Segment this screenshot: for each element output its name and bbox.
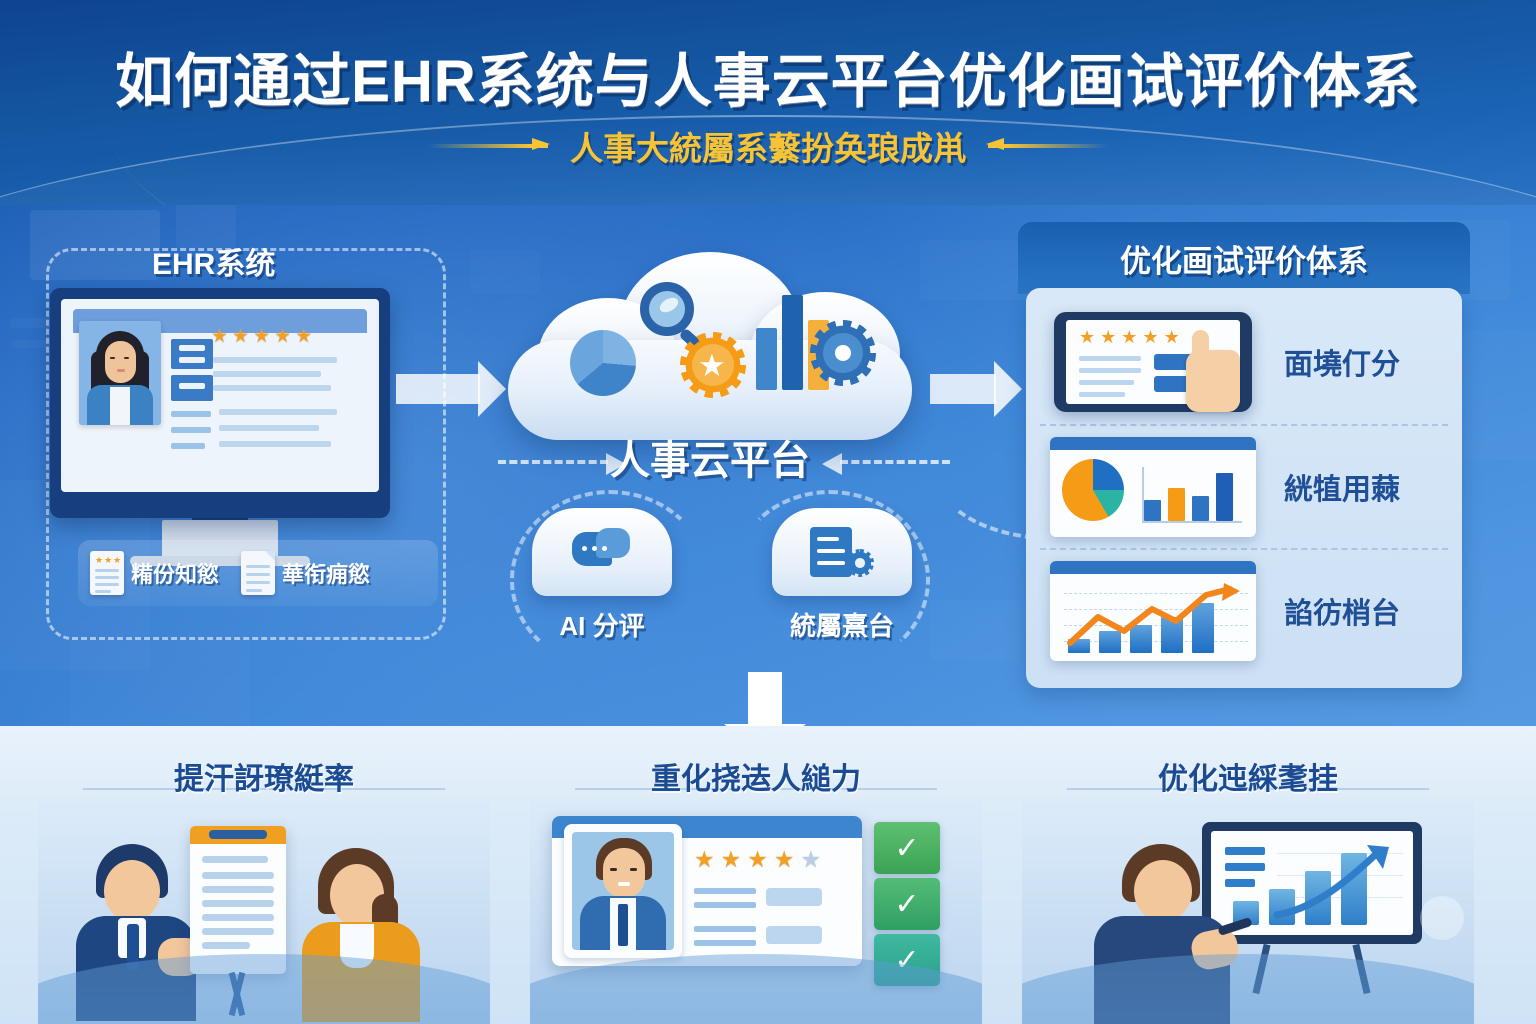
benefit-card-efficiency[interactable]: 提汗訝璙綎率 — [38, 726, 490, 1024]
benefit-title: 优化迍綵耄挂 — [1022, 754, 1474, 798]
ehr-chip-document[interactable]: 華衔痈慾 — [241, 551, 370, 595]
pod-icon-container — [772, 508, 912, 596]
text-line — [694, 902, 756, 908]
blue-gear-icon — [810, 320, 876, 386]
result-row-trend[interactable]: 諂彷梢台 — [1040, 548, 1448, 672]
head — [104, 860, 160, 922]
benefit-illustration — [1022, 800, 1474, 1024]
star-icon: ★ — [774, 850, 795, 869]
text-line — [213, 371, 321, 377]
text-line — [219, 425, 319, 431]
decorative-circle — [1420, 896, 1464, 940]
page-fold — [265, 551, 275, 561]
benefits-strip: 提汗訝璙綎率 — [0, 726, 1536, 1024]
text-line — [171, 427, 211, 433]
star-icon: ★ — [1100, 328, 1116, 346]
text-line — [1079, 392, 1125, 397]
form-line — [179, 357, 205, 363]
easel-leg — [229, 972, 245, 1016]
benefit-illustration: ★ ★ ★ ★ ★ ✓ ✓ ✓ — [530, 800, 982, 1024]
clipboard — [190, 826, 286, 974]
checkmark-list: ✓ ✓ ✓ — [874, 822, 940, 986]
text-line — [694, 940, 756, 946]
text-line — [171, 443, 205, 449]
star-icon: ★ — [698, 350, 726, 381]
text-line — [694, 888, 756, 894]
page-subtitle: 人事大統屬系蘻扮奂琅成鼡 — [570, 122, 966, 170]
avatar-eye — [124, 357, 129, 359]
rating-stars: ★ ★ ★ ★ ★ — [694, 850, 821, 869]
text-line — [219, 441, 331, 447]
result-row-analytics[interactable]: 絖犆用蕀 — [1040, 424, 1448, 548]
pie-chart-icon — [570, 330, 636, 396]
monitor-screen: ★ ★ ★ ★ ★ — [61, 299, 379, 492]
page-title: 如何通过EHR系统与人事云平台优化画试评价体系 — [0, 34, 1536, 118]
person-candidate — [296, 848, 426, 1020]
text-line — [1079, 380, 1134, 385]
star-icon: ★ — [694, 850, 715, 869]
results-panel-body: ★★★★★ 面墝仃分 — [1026, 288, 1462, 688]
card-header-bar — [1050, 561, 1256, 574]
rating-document-icon: ★★★ — [90, 551, 124, 595]
text-line — [213, 357, 337, 363]
check-icon: ✓ — [874, 822, 940, 874]
bar-chart — [1142, 467, 1242, 523]
easel-leg — [1352, 944, 1370, 994]
avatar-eye — [110, 357, 115, 359]
check-icon: ✓ — [874, 878, 940, 930]
star-icon: ★ — [1121, 328, 1137, 346]
hr-cloud-platform: ★ — [500, 252, 920, 452]
header-banner: 如何通过EHR系统与人事云平台优化画试评价体系 人事大統屬系蘻扮奂琅成鼡 — [0, 0, 1536, 205]
benefit-card-talent[interactable]: 重化挠迲人縋力 — [530, 726, 982, 1024]
trend-card — [1050, 561, 1256, 661]
text-line — [1079, 368, 1141, 373]
benefit-illustration — [38, 800, 490, 1024]
tie — [127, 924, 139, 970]
ehr-chip-label: 糒份知慾 — [131, 557, 219, 589]
candidate-photo — [79, 321, 161, 425]
monitor-frame: ★ ★ ★ ★ ★ — [50, 288, 390, 518]
pointing-hand-icon — [1186, 350, 1240, 412]
trend-line — [1064, 581, 1244, 657]
document-gear-icon — [810, 527, 874, 577]
form-field — [171, 339, 213, 369]
star-icon: ★ — [1164, 328, 1180, 346]
check-icon: ✓ — [874, 934, 940, 986]
head — [603, 848, 645, 898]
analytics-card — [1050, 437, 1256, 537]
arrow-cloud-to-results — [930, 374, 996, 404]
pie-chart — [1062, 459, 1124, 521]
text-line — [219, 409, 337, 415]
pod-label: 統屬熹台 — [772, 606, 912, 643]
candidate-profile-card: ★ ★ ★ ★ ★ — [552, 816, 862, 966]
star-icon: ★ — [801, 850, 822, 869]
arrow-right-decor — [988, 140, 1108, 152]
result-row-label: 絖犆用蕀 — [1284, 466, 1400, 508]
bg-texture — [930, 600, 1020, 660]
mini-stars: ★★★ — [95, 556, 121, 565]
card-header-bar — [1050, 437, 1256, 450]
avatar-mouth — [117, 369, 125, 372]
rating-stars: ★★★★★ — [1079, 328, 1180, 346]
ehr-chip-rating[interactable]: ★★★ 糒份知慾 — [90, 551, 219, 595]
infographic-root: 如何通过EHR系统与人事云平台优化画试评价体系 人事大統屬系蘻扮奂琅成鼡 EHR… — [0, 0, 1536, 1024]
ehr-monitor: ★ ★ ★ ★ ★ — [50, 288, 390, 518]
form-line — [179, 383, 205, 389]
star-icon: ★ — [1142, 328, 1158, 346]
tie — [618, 904, 628, 946]
star-icon: ★ — [232, 327, 249, 346]
result-row-label: 諂彷梢台 — [1284, 590, 1400, 632]
avatar-shirt — [110, 387, 130, 425]
person-presenter — [1094, 844, 1254, 1024]
avatar-frame — [564, 824, 682, 958]
clipboard-clip — [209, 830, 267, 839]
document-icon — [241, 551, 275, 595]
star-icon: ★ — [747, 850, 768, 869]
result-row-scoring[interactable]: ★★★★★ 面墝仃分 — [1040, 300, 1448, 424]
magnifier-lens — [640, 282, 694, 336]
result-row-label: 面墝仃分 — [1284, 341, 1400, 383]
star-icon: ★ — [274, 327, 291, 346]
pod-label: AI 分评 — [532, 606, 672, 643]
benefit-title: 重化挠迲人縋力 — [530, 754, 982, 798]
person-interviewer — [70, 844, 200, 1019]
arrow-down-to-benefits — [748, 672, 782, 724]
avatar-face — [105, 341, 136, 383]
pod-unified-platform[interactable]: 統屬熹台 — [772, 508, 912, 653]
trend-growth-chart-icon — [1040, 559, 1270, 663]
avatar-photo — [572, 832, 674, 950]
benefit-card-decision[interactable]: 优化迍綵耄挂 — [1022, 726, 1474, 1024]
easel-leg — [1252, 944, 1270, 994]
value-chip — [766, 888, 822, 906]
document-page — [810, 527, 852, 577]
pie-bar-chart-icon — [1040, 435, 1270, 539]
rating-stars: ★ ★ ★ ★ ★ — [211, 327, 312, 346]
head — [1134, 860, 1192, 922]
platform-capability-pods: AI 分评 統屬熹台 — [532, 508, 912, 653]
bg-texture — [70, 640, 250, 730]
cloud-platform-title: 人事云平台 — [500, 428, 920, 486]
ehr-chip-label: 華衔痈慾 — [282, 557, 370, 589]
growth-arrow — [1271, 839, 1411, 923]
blouse — [340, 924, 374, 968]
star-icon: ★ — [253, 327, 270, 346]
text-line — [171, 411, 211, 417]
pointer-stick — [1217, 917, 1252, 936]
ehr-section-label: EHR系统 — [140, 238, 287, 284]
chat-bubbles-icon — [572, 528, 632, 576]
results-panel: 优化画试评价体系 ★★★★★ — [1018, 222, 1470, 694]
ehr-chip-group: ★★★ 糒份知慾 華衔痈慾 — [78, 540, 438, 606]
star-icon: ★ — [721, 850, 742, 869]
value-chip — [766, 926, 822, 944]
star-icon: ★ — [1079, 328, 1095, 346]
cloud-icon-group: ★ — [560, 282, 870, 402]
results-panel-header: 优化画试评价体系 — [1018, 222, 1470, 294]
star-icon: ★ — [211, 327, 228, 346]
star-icon: ★ — [295, 327, 312, 346]
arrow-left-decor — [428, 140, 548, 152]
tablet-rating-icon: ★★★★★ — [1040, 310, 1270, 414]
text-line — [213, 385, 331, 391]
easel-leg — [229, 972, 245, 1016]
text-line — [694, 926, 756, 932]
pod-ai-scoring[interactable]: AI 分评 — [532, 508, 672, 653]
text-line — [1079, 356, 1141, 361]
form-line — [179, 345, 205, 351]
results-panel-title: 优化画试评价体系 — [1120, 236, 1368, 281]
gear-icon — [846, 549, 874, 577]
arrow-ehr-to-cloud — [396, 374, 480, 404]
benefit-title: 提汗訝璙綎率 — [38, 754, 490, 798]
subtitle-row: 人事大統屬系蘻扮奂琅成鼡 — [0, 122, 1536, 170]
pod-icon-container — [532, 508, 672, 596]
